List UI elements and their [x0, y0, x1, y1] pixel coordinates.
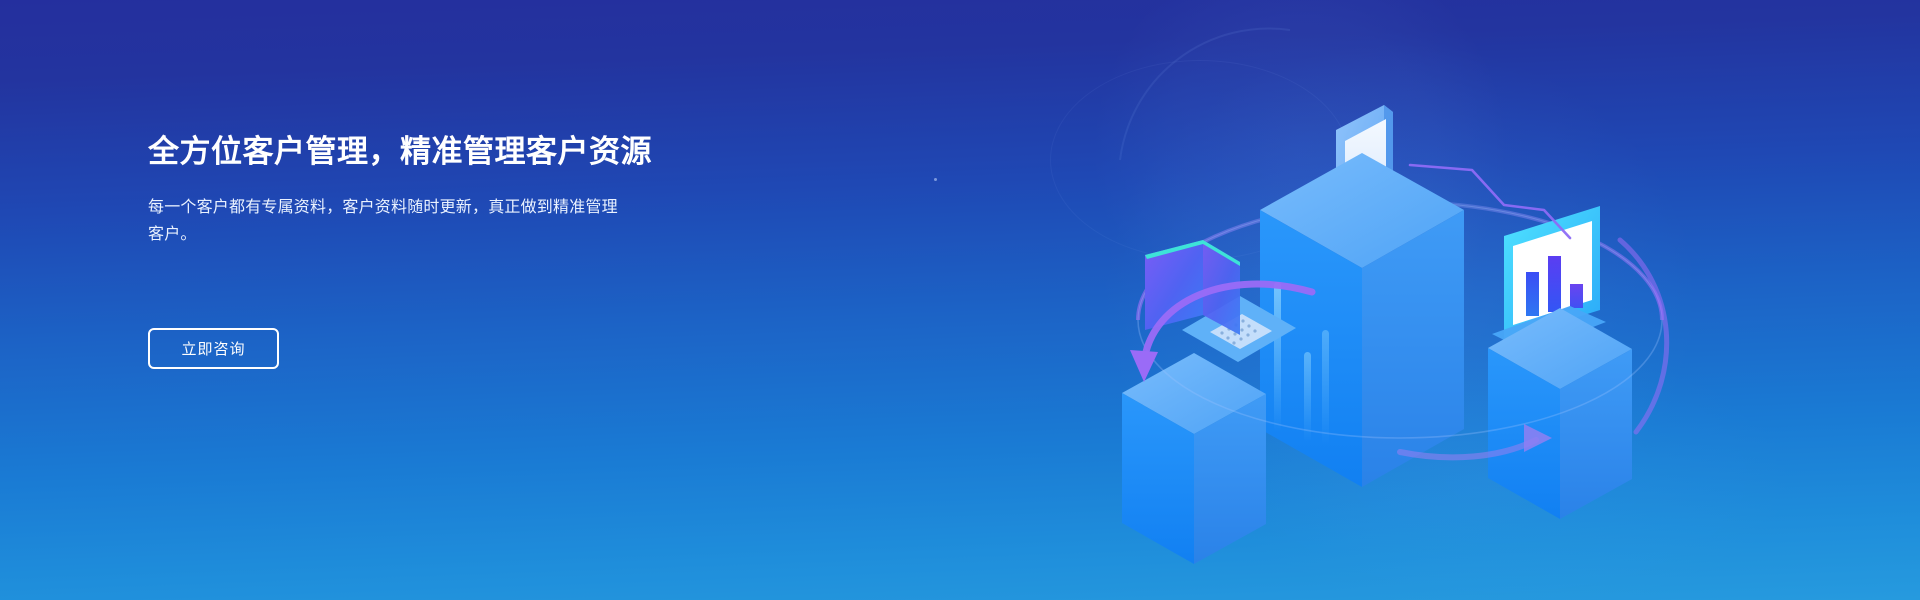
page-title: 全方位客户管理，精准管理客户资源 — [148, 133, 788, 170]
banner-copy-block: 全方位客户管理，精准管理客户资源 每一个客户都有专属资料，客户资料随时更新，真正… — [148, 133, 788, 248]
hero-banner: 全方位客户管理，精准管理客户资源 每一个客户都有专属资料，客户资料随时更新，真正… — [0, 0, 1920, 600]
banner-description: 每一个客户都有专属资料，客户资料随时更新，真正做到精准管理客户。 — [148, 195, 632, 248]
hero-illustration — [1100, 0, 1720, 600]
consult-now-button[interactable]: 立即咨询 — [148, 328, 279, 369]
sparkle-dot-icon — [934, 178, 937, 181]
